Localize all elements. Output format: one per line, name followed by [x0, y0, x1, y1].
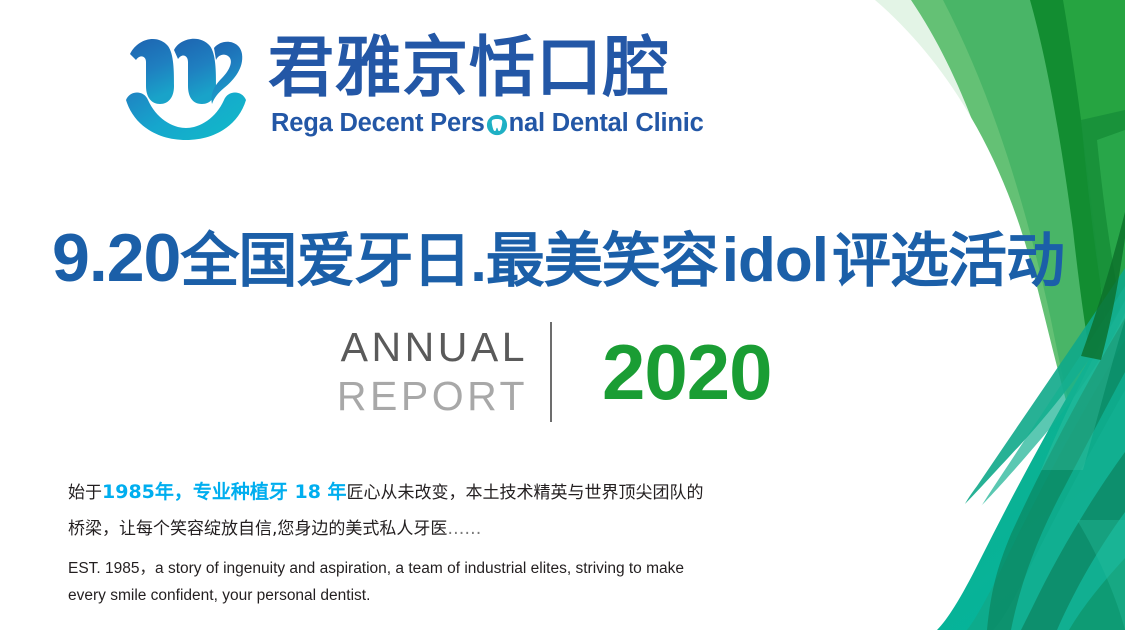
description-block: 始于1985年，专业种植牙 18 年匠心从未改变，本土技术精英与世界顶尖团队的 …	[68, 474, 768, 609]
headline-segment-1: 全国爱牙日.最美笑容	[180, 228, 717, 294]
annual-report-words: ANNUAL REPORT	[300, 323, 550, 421]
copy-english-line-1: EST. 1985，a story of ingenuity and aspir…	[68, 555, 768, 582]
copy-chinese-line-1: 始于1985年，专业种植牙 18 年匠心从未改变，本土技术精英与世界顶尖团队的	[68, 474, 768, 511]
copy-cn-tail: 匠心从未改变，本土技术精英与世界顶尖团队的	[347, 483, 704, 503]
headline-segment-2: 评选活动	[832, 228, 1064, 294]
logo-chinese-name: 君雅京恬口腔	[268, 30, 680, 104]
copy-cn-highlight: 1985年，专业种植牙 18 年	[102, 481, 347, 503]
copy-chinese-line-2: 桥梁，让每个笑容绽放自信,您身边的美式私人牙医……	[68, 511, 768, 547]
copy-cn-line2-text: 桥梁，让每个笑容绽放自信,您身边的美式私人牙医	[68, 519, 447, 539]
page-title: 9.20全国爱牙日.最美笑容idol评选活动	[52, 222, 1082, 297]
copy-cn-lead: 始于	[68, 483, 102, 503]
headline-date: 9.20	[52, 220, 180, 296]
logo-chinese-name-text: 君雅京恬口腔	[268, 30, 670, 104]
report-label: REPORT	[300, 371, 528, 421]
w-smile-logo-icon	[118, 28, 250, 140]
annual-report-block: ANNUAL REPORT 2020	[300, 322, 772, 422]
copy-cn-ellipsis: ……	[447, 519, 481, 539]
report-year: 2020	[602, 332, 772, 412]
copy-english-line-2: every smile confident, your personal den…	[68, 582, 768, 609]
tooth-circle-icon	[486, 114, 508, 136]
green-ribbon-artwork	[825, 0, 1125, 630]
brand-logo: 君雅京恬口腔 Rega Decent Pers nal Dental Clini…	[118, 28, 704, 140]
poster-canvas: 君雅京恬口腔 Rega Decent Pers nal Dental Clini…	[0, 0, 1125, 630]
headline-latin: idol	[718, 226, 832, 295]
logo-text-group: 君雅京恬口腔 Rega Decent Pers nal Dental Clini…	[268, 30, 704, 138]
vertical-divider	[550, 322, 552, 422]
annual-label: ANNUAL	[300, 323, 528, 371]
logo-english-name: Rega Decent Pers nal Dental Clinic	[271, 109, 704, 138]
logo-english-pre: Rega Decent Pers	[271, 109, 485, 138]
logo-english-post: nal Dental Clinic	[509, 109, 704, 138]
